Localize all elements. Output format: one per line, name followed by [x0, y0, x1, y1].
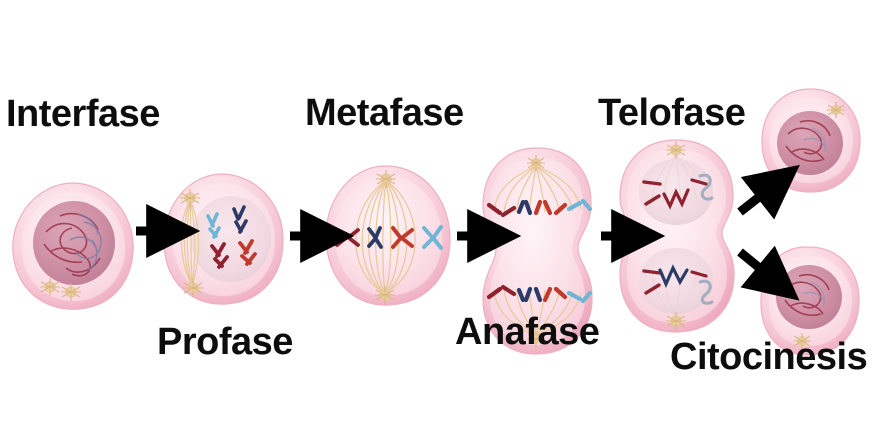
label-citocinesis: Citocinesis: [670, 338, 867, 376]
nuclear-envelope-dissolving: [191, 196, 271, 282]
arrow-telofase-daughter1: [740, 186, 773, 212]
label-anafase: Anafase: [455, 313, 599, 351]
cell-telofase: [620, 140, 734, 332]
label-interfase: Interfase: [6, 95, 160, 133]
label-profase: Profase: [157, 323, 293, 361]
cell-profase: [164, 174, 283, 304]
cell-interfase: [13, 183, 133, 309]
label-telofase: Telofase: [598, 94, 745, 132]
cell-citocinesis-daughter-1: [762, 89, 860, 192]
mitosis-diagram: Interfase Profase Metafase Anafase Telof…: [0, 0, 886, 443]
arrow-telofase-daughter2: [740, 252, 773, 279]
label-metafase: Metafase: [305, 94, 464, 132]
cell-metafase: [326, 166, 450, 305]
